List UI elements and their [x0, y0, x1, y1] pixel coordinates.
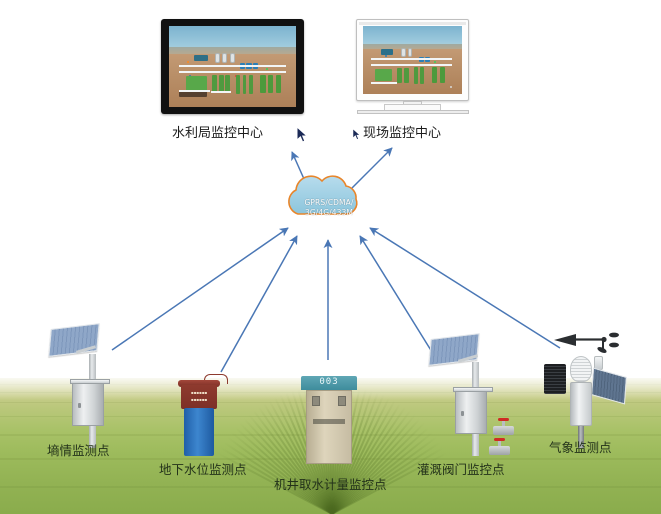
cabinet-lid	[453, 387, 493, 392]
monitor-bezel-top	[359, 22, 466, 25]
well-cap-text-2: ▪▪▪▪▪▪	[181, 397, 217, 402]
scada-scene-right	[363, 26, 462, 94]
valve-controller-cabinet-icon	[455, 390, 487, 434]
monitor-water-bureau[interactable]	[161, 19, 304, 114]
mouse-cursor-primary	[296, 126, 308, 144]
valve-body	[493, 426, 514, 435]
cabinet-latch	[461, 411, 464, 416]
cabinet-lid	[70, 379, 110, 384]
well-casing-icon	[184, 408, 214, 456]
well-cap-icon: ▪▪▪▪▪▪ ▪▪▪▪▪▪	[181, 385, 217, 409]
caption-irrigation-valve: 灌溉阀门监控点	[417, 459, 505, 478]
controller-cabinet-icon	[72, 382, 104, 426]
monitor-onsite-center[interactable]	[356, 19, 469, 101]
caption-onsite-center: 现场监控中心	[363, 122, 441, 141]
node-groundwater-station[interactable]: ▪▪▪▪▪▪ ▪▪▪▪▪▪	[176, 374, 232, 456]
valve-icon-upper	[490, 418, 516, 440]
valve-icon-lower	[486, 438, 512, 460]
cabinet-latch	[78, 403, 81, 408]
solar-panel-icon	[591, 367, 627, 404]
scada-scene-left	[169, 26, 296, 107]
rain-gauge-icon	[544, 364, 566, 394]
kiosk-body-icon	[306, 390, 352, 464]
kiosk-number: 003	[301, 377, 357, 387]
node-soil-moisture-station[interactable]	[46, 324, 140, 448]
kiosk-signage-plate	[313, 419, 345, 424]
kiosk-roof-icon: 003	[301, 376, 357, 390]
solar-panel-icon	[428, 333, 479, 366]
node-weather-station[interactable]	[536, 324, 632, 448]
solar-panel-icon	[48, 323, 99, 357]
valve-body	[489, 446, 510, 455]
cloud-label: GPRS/CDMA/ 3G/4G/433M	[279, 198, 379, 218]
diagram-canvas: 水利局监控中心 现场监控中心	[0, 0, 661, 514]
kiosk-window-right	[338, 396, 346, 406]
monitor-stand-base	[357, 110, 469, 114]
caption-groundwater-level: 地下水位监测点	[159, 459, 247, 478]
kiosk-window-left	[312, 396, 320, 406]
weather-enclosure-icon	[570, 382, 592, 426]
caption-soil-moisture: 墒情监测点	[47, 440, 110, 459]
mouse-cursor-secondary	[352, 128, 361, 141]
caption-well-metering: 机井取水计量监控点	[274, 474, 387, 493]
caption-water-bureau-center: 水利局监控中心	[172, 122, 263, 141]
wind-vane-icon	[552, 326, 624, 360]
node-well-metering-station[interactable]: 003	[301, 376, 357, 464]
well-cap-text: ▪▪▪▪▪▪	[181, 390, 217, 395]
radiation-shield-icon	[570, 356, 592, 382]
cloud-label-line2: 3G/4G/433M	[279, 208, 379, 218]
cloud-network-node[interactable]: GPRS/CDMA/ 3G/4G/433M	[279, 181, 379, 235]
cloud-label-line1: GPRS/CDMA/	[279, 198, 379, 208]
node-irrigation-valve-station[interactable]	[424, 334, 530, 456]
caption-weather-station: 气象监测点	[549, 437, 612, 456]
